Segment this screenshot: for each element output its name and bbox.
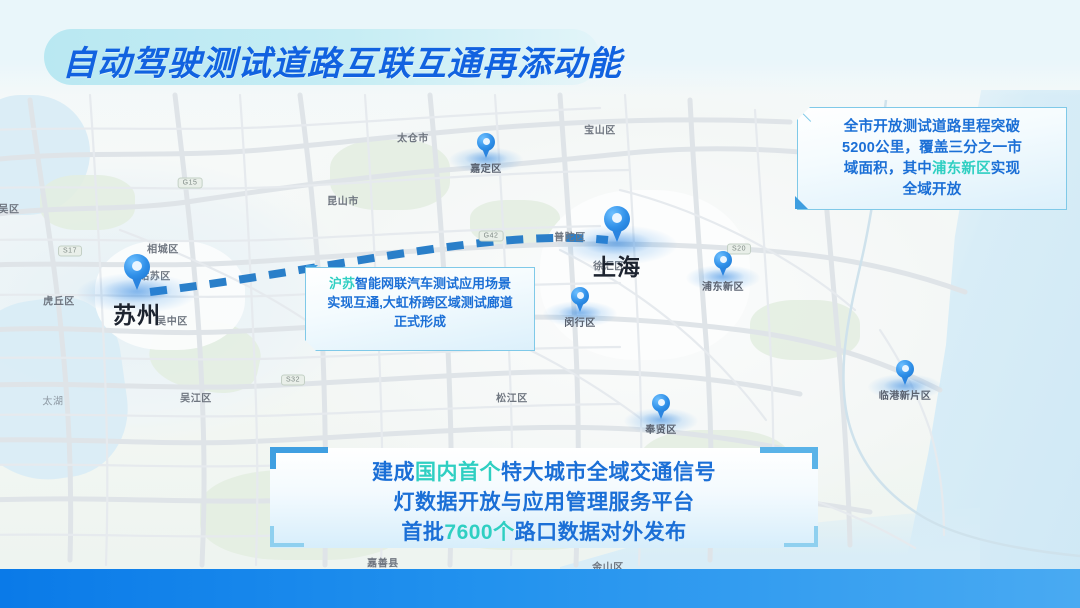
open-test-road-mileage-callout: 全市开放测试道路里程突破5200公里，覆盖三分之一市域面积，其中浦东新区实现全域… (797, 107, 1067, 210)
callout-line: 域面积，其中浦东新区实现 (808, 159, 1056, 180)
callout-bracket-top-left (270, 447, 328, 469)
map-area-label: 松江区 (496, 390, 528, 405)
pin-dot-icon (658, 399, 665, 406)
callout-bracket-bottom-left (270, 526, 304, 547)
callout-text: 建成 (372, 461, 415, 484)
map-area-label: 嘉善县 (367, 555, 399, 570)
callout-text: 首批 (401, 521, 444, 544)
callout-bracket-bottom-right (784, 526, 818, 547)
pin-dot-icon (132, 261, 142, 271)
callout-line: 灯数据开放与应用管理服务平台 (270, 488, 818, 518)
marker-label: 上海 (593, 248, 641, 282)
map-area-label: 宝山区 (584, 122, 616, 137)
map-marker-lingang[interactable]: 临港新片区 (896, 360, 914, 385)
map-area-label: 太仓市 (397, 130, 429, 145)
map-area-label: 相城区 (147, 241, 179, 256)
page-title: 自动驾驶测试道路互联互通再添动能 (62, 36, 622, 85)
callout-text: 域面积，其中 (844, 161, 932, 177)
callout-line: 全市开放测试道路里程突破 (808, 117, 1056, 138)
pin-dot-icon (902, 365, 909, 372)
callout-line: 实现互通,大虹桥跨区域测试廊道 (314, 294, 526, 313)
road-shield: G15 (178, 178, 203, 189)
map-pin-icon (124, 254, 150, 290)
callout-line: 沪苏智能网联汽车测试应用场景 (314, 275, 526, 294)
map-area-label: 昆山市 (327, 193, 359, 208)
footer-bar (0, 569, 1080, 608)
pin-dot-icon (483, 138, 490, 145)
map-pin-icon (477, 133, 495, 158)
road-shield: G42 (479, 231, 504, 242)
callout-text: 全市开放测试道路里程突破 (844, 119, 1020, 135)
callout-text: 智能网联汽车测试应用场景 (355, 276, 511, 291)
road-shield: S32 (281, 375, 305, 386)
callout-highlight-text: 7600个 (444, 521, 514, 544)
callout-highlight-text: 国内首个 (415, 461, 501, 484)
map-pin-icon (896, 360, 914, 385)
map-area-label: 吴区 (0, 201, 20, 216)
callout-text: 正式形成 (394, 314, 446, 329)
marker-label: 奉贤区 (645, 421, 677, 436)
map-marker-minhang[interactable]: 闵行区 (571, 287, 589, 312)
traffic-signal-platform-callout: 建成国内首个特大城市全域交通信号灯数据开放与应用管理服务平台首批7600个路口数… (270, 448, 818, 548)
infographic-canvas: 太仓市宝山区昆山市普陀区相城区姑苏区虎丘区吴中区徐汇区吴区吴江区松江区嘉善县金山… (0, 0, 1080, 608)
marker-label: 闵行区 (564, 314, 596, 329)
map-pin-icon (714, 251, 732, 276)
map-pin-icon (571, 287, 589, 312)
marker-label: 苏州 (113, 296, 161, 330)
callout-corner-triangle (795, 196, 808, 209)
pin-dot-icon (612, 213, 622, 223)
map-pin-icon (652, 394, 670, 419)
marker-label: 浦东新区 (702, 278, 744, 293)
callout-text: 实现 (991, 161, 1020, 177)
map-marker-jiading[interactable]: 嘉定区 (477, 133, 495, 158)
callout-line: 全域开放 (808, 180, 1056, 201)
callout-line: 建成国内首个特大城市全域交通信号 (270, 458, 818, 488)
road-shield: S17 (58, 246, 82, 257)
marker-label: 嘉定区 (470, 160, 502, 175)
callout-text: 实现互通,大虹桥跨区域测试廊道 (327, 295, 513, 310)
map-marker-suzhou[interactable]: 苏州 (124, 254, 150, 290)
marker-label: 临港新片区 (879, 387, 932, 402)
map-area-label: 太湖 (42, 393, 63, 408)
map-area-label: 吴江区 (180, 390, 212, 405)
callout-line: 5200公里，覆盖三分之一市 (808, 138, 1056, 159)
callout-text: 全域开放 (903, 182, 962, 198)
pin-dot-icon (720, 256, 727, 263)
map-marker-fengxian[interactable]: 奉贤区 (652, 394, 670, 419)
callout-line: 首批7600个路口数据对外发布 (270, 518, 818, 548)
pin-dot-icon (577, 292, 584, 299)
map-pin-icon (604, 206, 630, 242)
callout-highlight-text: 沪苏 (329, 276, 355, 291)
callout-text: 特大城市全域交通信号 (501, 461, 716, 484)
map-marker-pudong[interactable]: 浦东新区 (714, 251, 732, 276)
map-area-label: 虎丘区 (43, 293, 75, 308)
callout-text: 路口数据对外发布 (515, 521, 687, 544)
callout-bracket-top-right (760, 447, 818, 469)
callout-text: 5200公里，覆盖三分之一市 (842, 140, 1022, 156)
callout-line: 正式形成 (314, 313, 526, 332)
map-marker-shanghai[interactable]: 上海 (604, 206, 630, 242)
callout-highlight-text: 浦东新区 (932, 161, 991, 177)
callout-text: 灯数据开放与应用管理服务平台 (394, 491, 695, 514)
hu-su-corridor-callout: 沪苏智能网联汽车测试应用场景实现互通,大虹桥跨区域测试廊道正式形成 (305, 267, 535, 351)
